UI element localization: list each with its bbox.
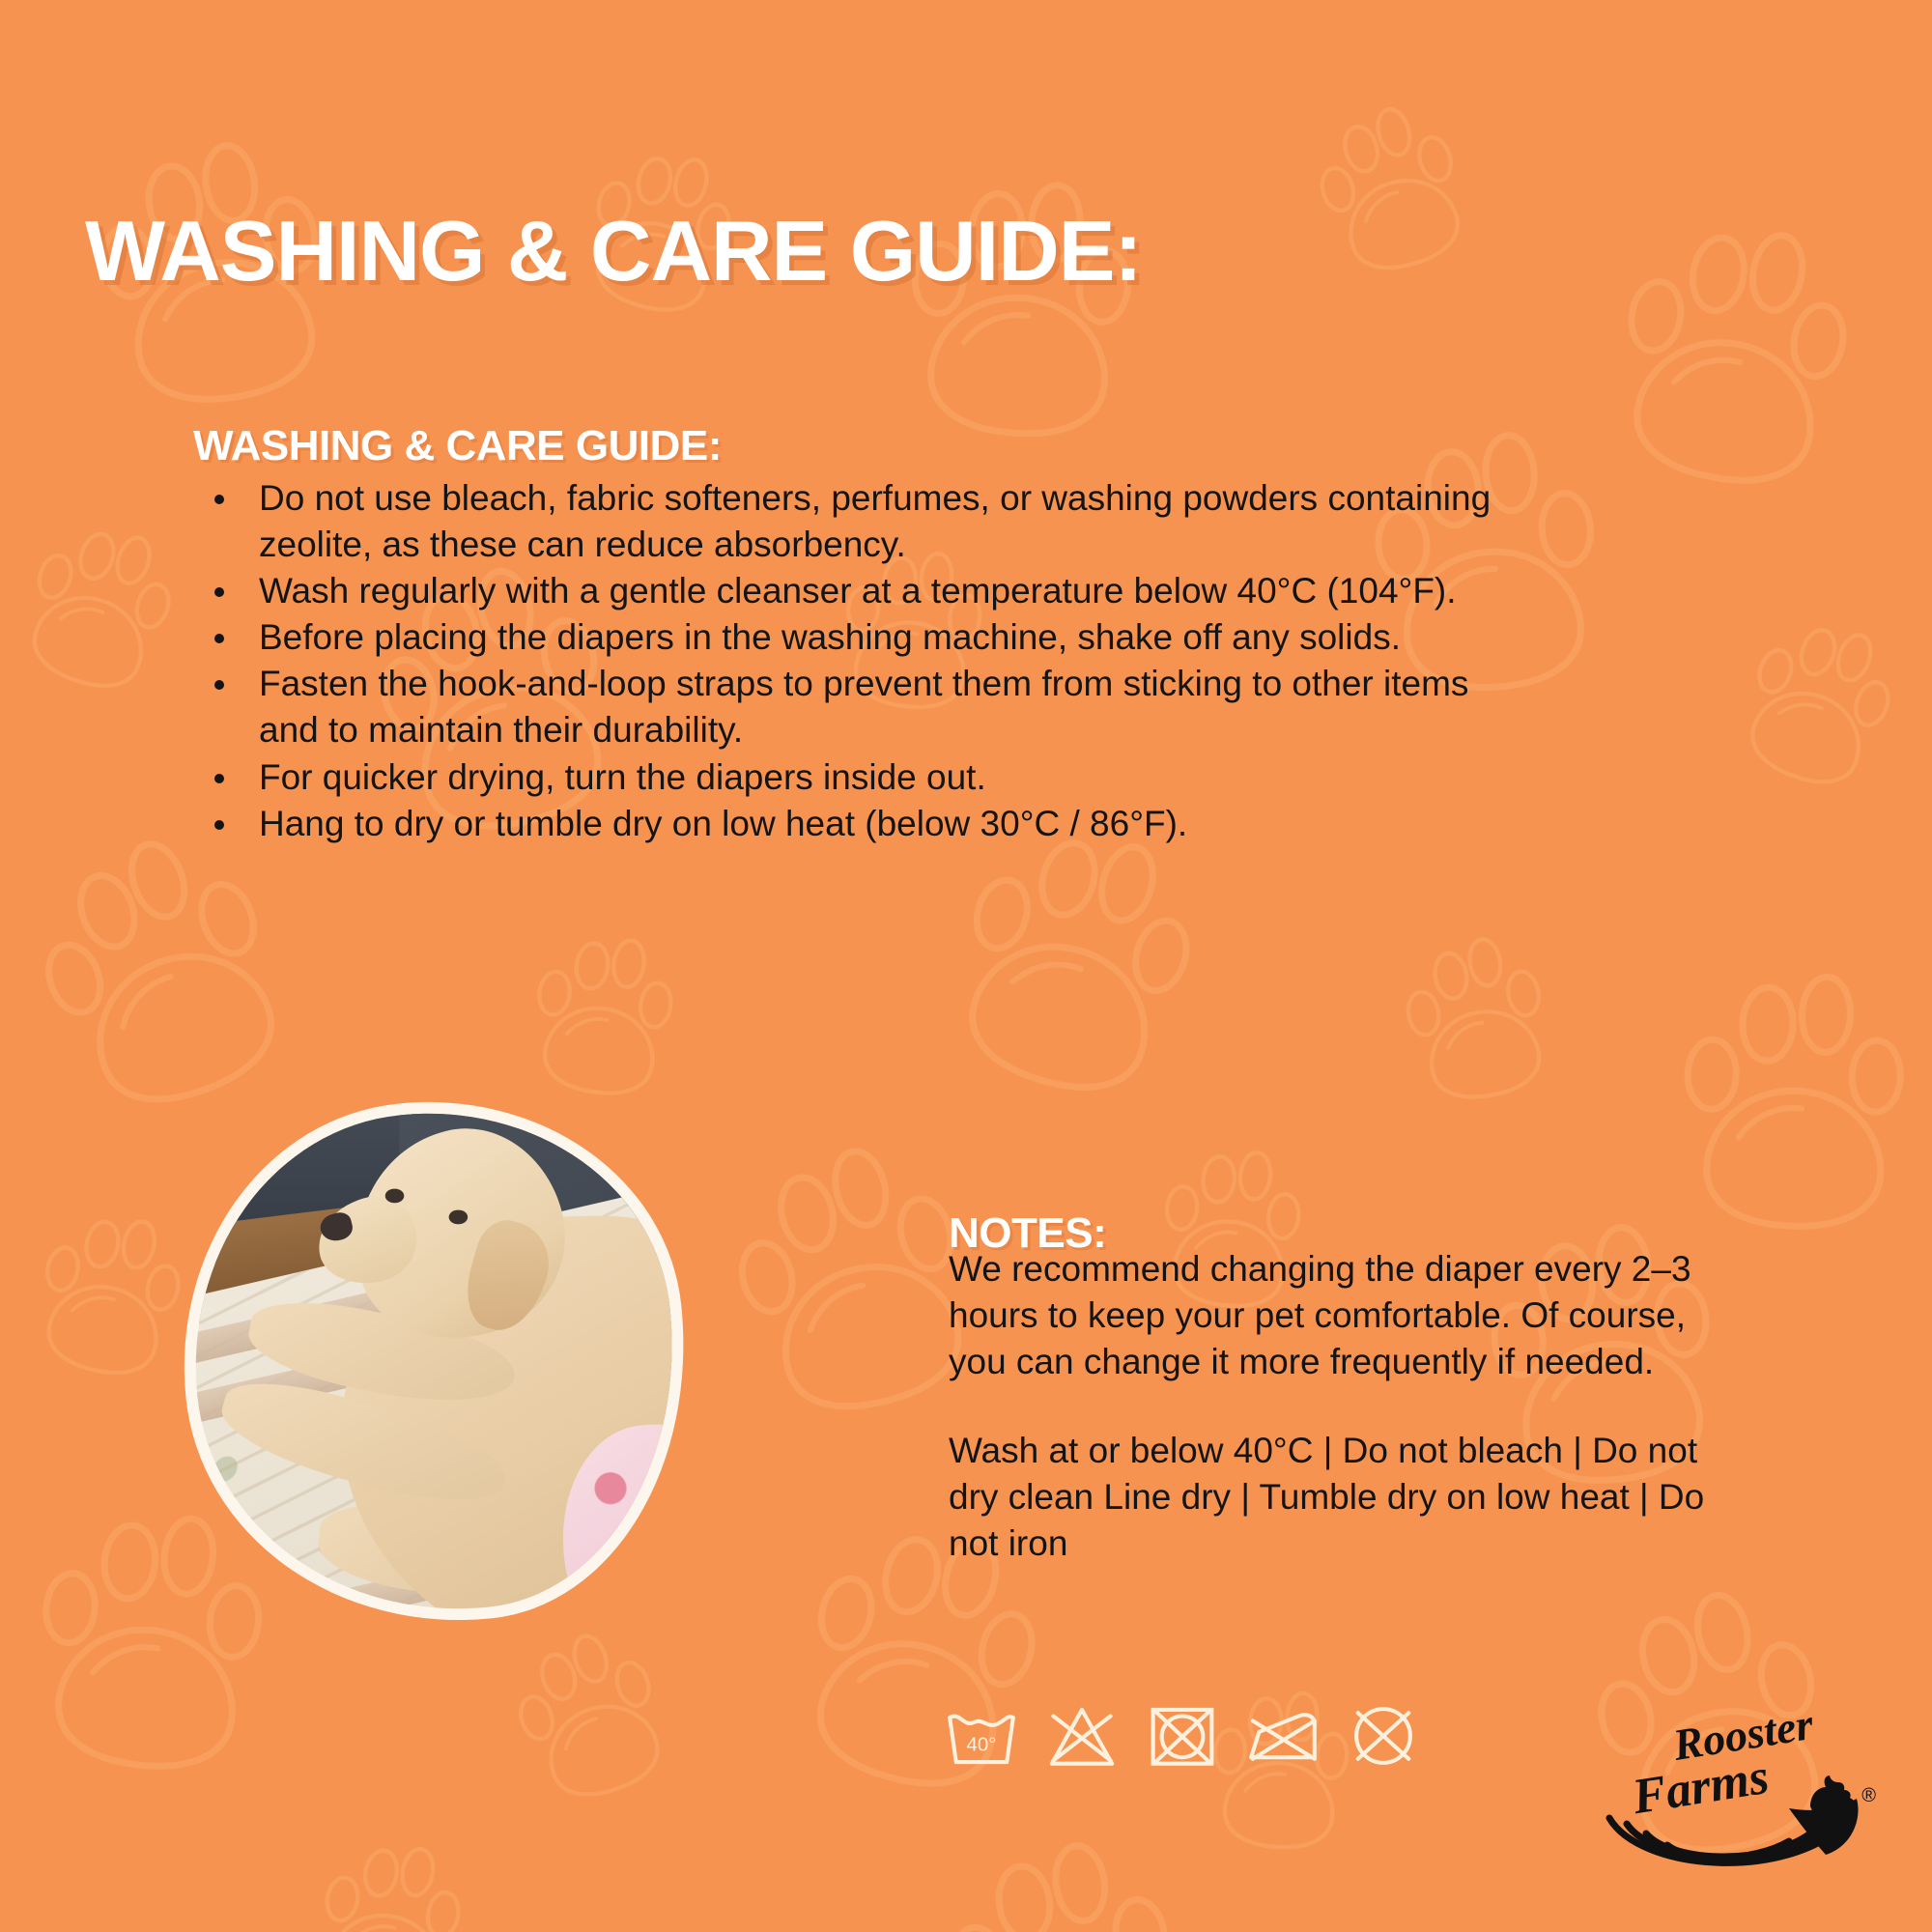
- list-item-text: Fasten the hook-and-loop straps to preve…: [259, 664, 1468, 750]
- care-symbol-row: 40°: [942, 1700, 1423, 1772]
- bullet-dot-icon: [214, 634, 224, 643]
- list-item: Do not use bleach, fabric softeners, per…: [193, 475, 1497, 568]
- do-not-dry-clean-icon: [1344, 1700, 1423, 1772]
- notes-body: We recommend changing the diaper every 2…: [949, 1246, 1712, 1568]
- list-item: For quicker drying, turn the diapers ins…: [193, 754, 1497, 801]
- washing-care-bullet-list: Do not use bleach, fabric softeners, per…: [193, 475, 1497, 847]
- do-not-bleach-icon: [1042, 1700, 1122, 1772]
- photo-dog-eye: [385, 1189, 404, 1204]
- list-item: Wash regularly with a gentle cleanser at…: [193, 568, 1497, 614]
- list-item: Hang to dry or tumble dry on low heat (b…: [193, 801, 1497, 847]
- dog-wearing-diaper-photo: [184, 1101, 686, 1623]
- notes-paragraph: Wash at or below 40°C | Do not bleach | …: [949, 1428, 1712, 1567]
- list-item-text: Do not use bleach, fabric softeners, per…: [259, 478, 1491, 564]
- photo-clip: [170, 1089, 698, 1634]
- do-not-iron-icon: [1243, 1700, 1322, 1772]
- rooster-farms-logo-mark: Rooster Farms: [1582, 1692, 1872, 1886]
- logo-line-2: Farms: [1628, 1749, 1773, 1826]
- poster-canvas: WASHING & CARE GUIDE: WASHING & CARE GUI…: [0, 0, 1932, 1932]
- list-item-text: Wash regularly with a gentle cleanser at…: [259, 571, 1457, 611]
- photo-inner: [170, 1089, 698, 1634]
- bullet-dot-icon: [214, 820, 224, 830]
- do-not-tumble-dry-icon: [1143, 1700, 1222, 1772]
- washing-care-heading: WASHING & CARE GUIDE:: [193, 422, 722, 470]
- bullet-dot-icon: [214, 587, 224, 597]
- wash-40-icon: 40°: [942, 1700, 1021, 1772]
- brand-logo: Rooster Farms ®: [1582, 1692, 1872, 1886]
- list-item-text: Hang to dry or tumble dry on low heat (b…: [259, 804, 1187, 843]
- list-item-text: For quicker drying, turn the diapers ins…: [259, 757, 986, 797]
- bullet-dot-icon: [214, 774, 224, 783]
- wash-temperature-label: 40°: [966, 1734, 996, 1756]
- bullet-dot-icon: [214, 495, 224, 504]
- page-title: WASHING & CARE GUIDE:: [85, 202, 1142, 300]
- notes-paragraph: We recommend changing the diaper every 2…: [949, 1246, 1712, 1385]
- bullet-dot-icon: [214, 680, 224, 690]
- list-item: Before placing the diapers in the washin…: [193, 614, 1497, 661]
- list-item-text: Before placing the diapers in the washin…: [259, 617, 1401, 657]
- registered-trademark-symbol: ®: [1861, 1785, 1876, 1807]
- list-item: Fasten the hook-and-loop straps to preve…: [193, 661, 1497, 753]
